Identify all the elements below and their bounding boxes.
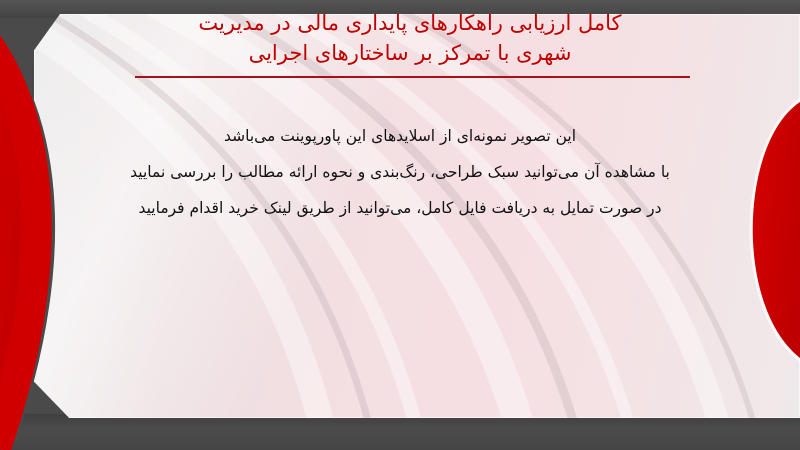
slide-title: کامل ارزیابی راهکارهای پایداری مالی در م… [120,8,700,68]
slide-title-line-1: کامل ارزیابی راهکارهای پایداری مالی در م… [120,8,700,38]
slide-body-line-3: در صورت تمایل به دریافت فایل کامل، می‌تو… [110,190,690,226]
slide-title-line-2: شهری با تمرکز بر ساختارهای اجرایی [120,38,700,68]
frame-band-bottom [0,414,800,450]
presentation-slide: کامل ارزیابی راهکارهای پایداری مالی در م… [0,0,800,450]
title-underline-rule [135,76,690,78]
slide-body: این تصویر نمونه‌ای از اسلایدهای این پاور… [110,118,690,226]
slide-body-line-1: این تصویر نمونه‌ای از اسلایدهای این پاور… [110,118,690,154]
slide-body-line-2: با مشاهده آن می‌توانید سبک طراحی، رنگ‌بن… [110,154,690,190]
